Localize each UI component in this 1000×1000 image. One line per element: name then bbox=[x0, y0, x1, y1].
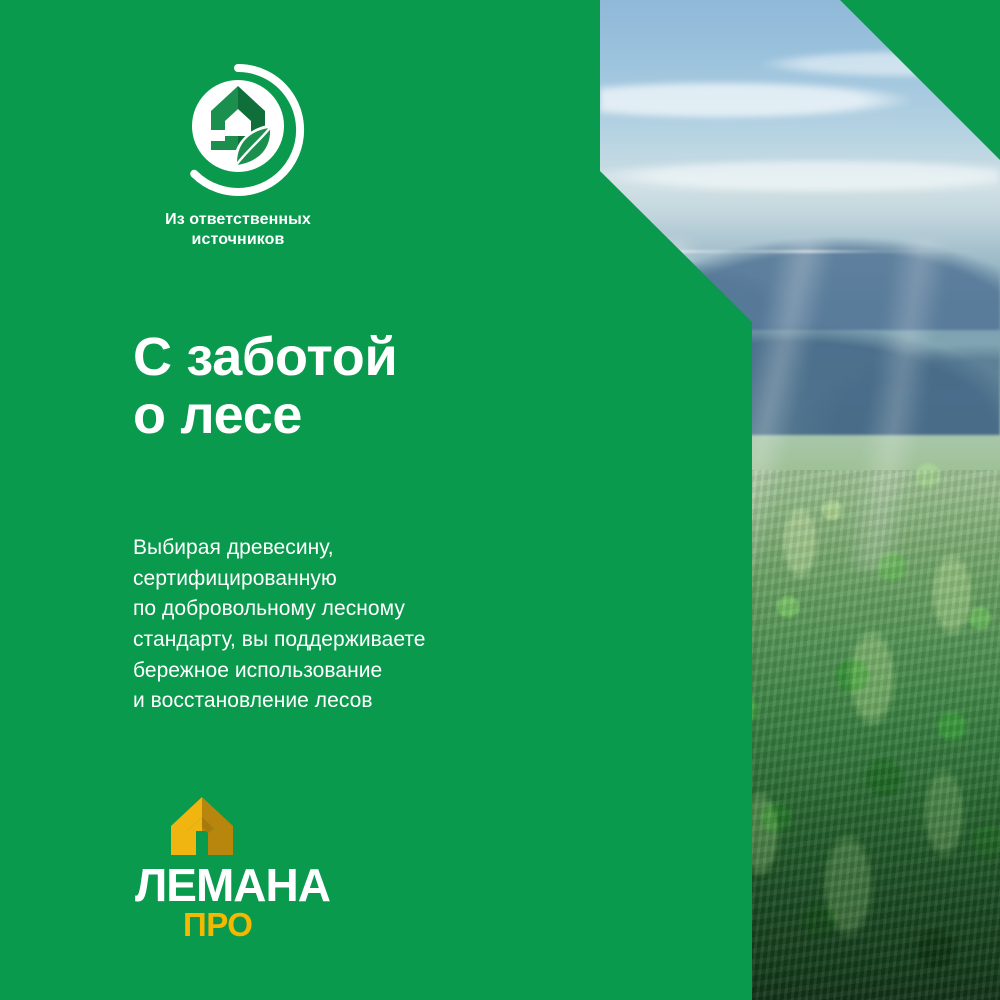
poster-content: Из ответственных источников С заботой о … bbox=[0, 0, 1000, 1000]
lemana-house-icon bbox=[165, 795, 239, 857]
page-title: С заботой о лесе bbox=[133, 328, 397, 445]
brand-name: ЛЕМАНА bbox=[135, 863, 325, 907]
poster-canvas: Из ответственных источников С заботой о … bbox=[0, 0, 1000, 1000]
responsible-sources-house-leaf-mark bbox=[170, 62, 306, 198]
certification-badge: Из ответственных источников bbox=[133, 62, 343, 250]
body-paragraph: Выбирая древесину, сертифицированную по … bbox=[133, 533, 426, 717]
brand-logo: ЛЕМАНА ПРО bbox=[135, 795, 325, 941]
certification-caption: Из ответственных источников bbox=[133, 210, 343, 250]
brand-suffix: ПРО bbox=[183, 908, 325, 941]
